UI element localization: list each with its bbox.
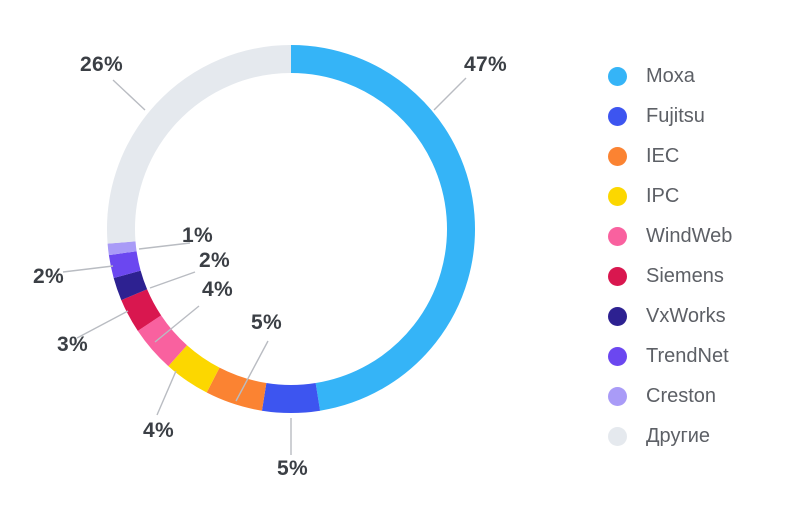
legend-item-moxa[interactable]: Moxa (608, 56, 798, 96)
legend-item-iec[interactable]: IEC (608, 136, 798, 176)
legend-swatch-icon (608, 227, 627, 246)
legend-swatch-icon (608, 147, 627, 166)
donut-slice-group (121, 59, 461, 399)
data-label-moxa: 47% (464, 53, 507, 77)
legend-item-creston[interactable]: Creston (608, 376, 798, 416)
leader-line-moxa (434, 78, 466, 110)
legend-label: Moxa (646, 65, 695, 88)
donut-slice-trendnet[interactable] (123, 253, 127, 274)
donut-chart-page: 47% 5% 5% 4% 4% 3% 2% 2% 1% 26% MoxaFuji… (0, 0, 800, 520)
legend-label: TrendNet (646, 345, 729, 368)
legend-swatch-icon (608, 307, 627, 326)
legend-swatch-icon (608, 67, 627, 86)
donut-slice-другие[interactable] (121, 59, 291, 242)
data-label-windweb: 4% (202, 278, 233, 302)
data-label-iec: 5% (251, 311, 282, 335)
legend-swatch-icon (608, 187, 627, 206)
legend: MoxaFujitsuIECIPCWindWebSiemensVxWorksTr… (608, 56, 798, 456)
data-label-creston: 1% (182, 224, 213, 248)
legend-label: IEC (646, 145, 679, 168)
leader-line-vxworks (150, 272, 195, 288)
donut-chart (0, 0, 590, 520)
legend-item-windweb[interactable]: WindWeb (608, 216, 798, 256)
legend-label: Siemens (646, 265, 724, 288)
legend-label: VxWorks (646, 305, 726, 328)
leader-line-trendnet (63, 266, 113, 272)
data-label-others: 26% (80, 53, 123, 77)
legend-item-другие[interactable]: Другие (608, 416, 798, 456)
donut-slice-fujitsu[interactable] (264, 397, 318, 399)
legend-swatch-icon (608, 267, 627, 286)
legend-label: Другие (646, 425, 710, 448)
data-label-siemens: 3% (57, 333, 88, 357)
legend-item-ipc[interactable]: IPC (608, 176, 798, 216)
donut-slice-ipc[interactable] (178, 356, 213, 380)
legend-swatch-icon (608, 387, 627, 406)
donut-slice-windweb[interactable] (149, 323, 177, 356)
leader-line-ipc (157, 371, 176, 415)
donut-slice-moxa[interactable] (291, 59, 461, 397)
legend-label: Fujitsu (646, 105, 705, 128)
legend-label: Creston (646, 385, 716, 408)
donut-slice-creston[interactable] (122, 242, 123, 253)
data-label-fujitsu: 5% (277, 457, 308, 481)
legend-item-trendnet[interactable]: TrendNet (608, 336, 798, 376)
legend-item-fujitsu[interactable]: Fujitsu (608, 96, 798, 136)
chart-area: 47% 5% 5% 4% 4% 3% 2% 2% 1% 26% (0, 0, 590, 520)
legend-label: IPC (646, 185, 679, 208)
data-label-vxworks: 2% (199, 249, 230, 273)
legend-label: WindWeb (646, 225, 732, 248)
data-label-ipc: 4% (143, 419, 174, 443)
donut-slice-iec[interactable] (213, 380, 264, 397)
donut-slice-vxworks[interactable] (127, 274, 134, 294)
data-label-trendnet: 2% (33, 265, 64, 289)
legend-swatch-icon (608, 347, 627, 366)
legend-item-siemens[interactable]: Siemens (608, 256, 798, 296)
legend-swatch-icon (608, 427, 627, 446)
donut-slice-siemens[interactable] (134, 295, 149, 323)
legend-swatch-icon (608, 107, 627, 126)
legend-item-vxworks[interactable]: VxWorks (608, 296, 798, 336)
leader-line-others (113, 80, 145, 110)
